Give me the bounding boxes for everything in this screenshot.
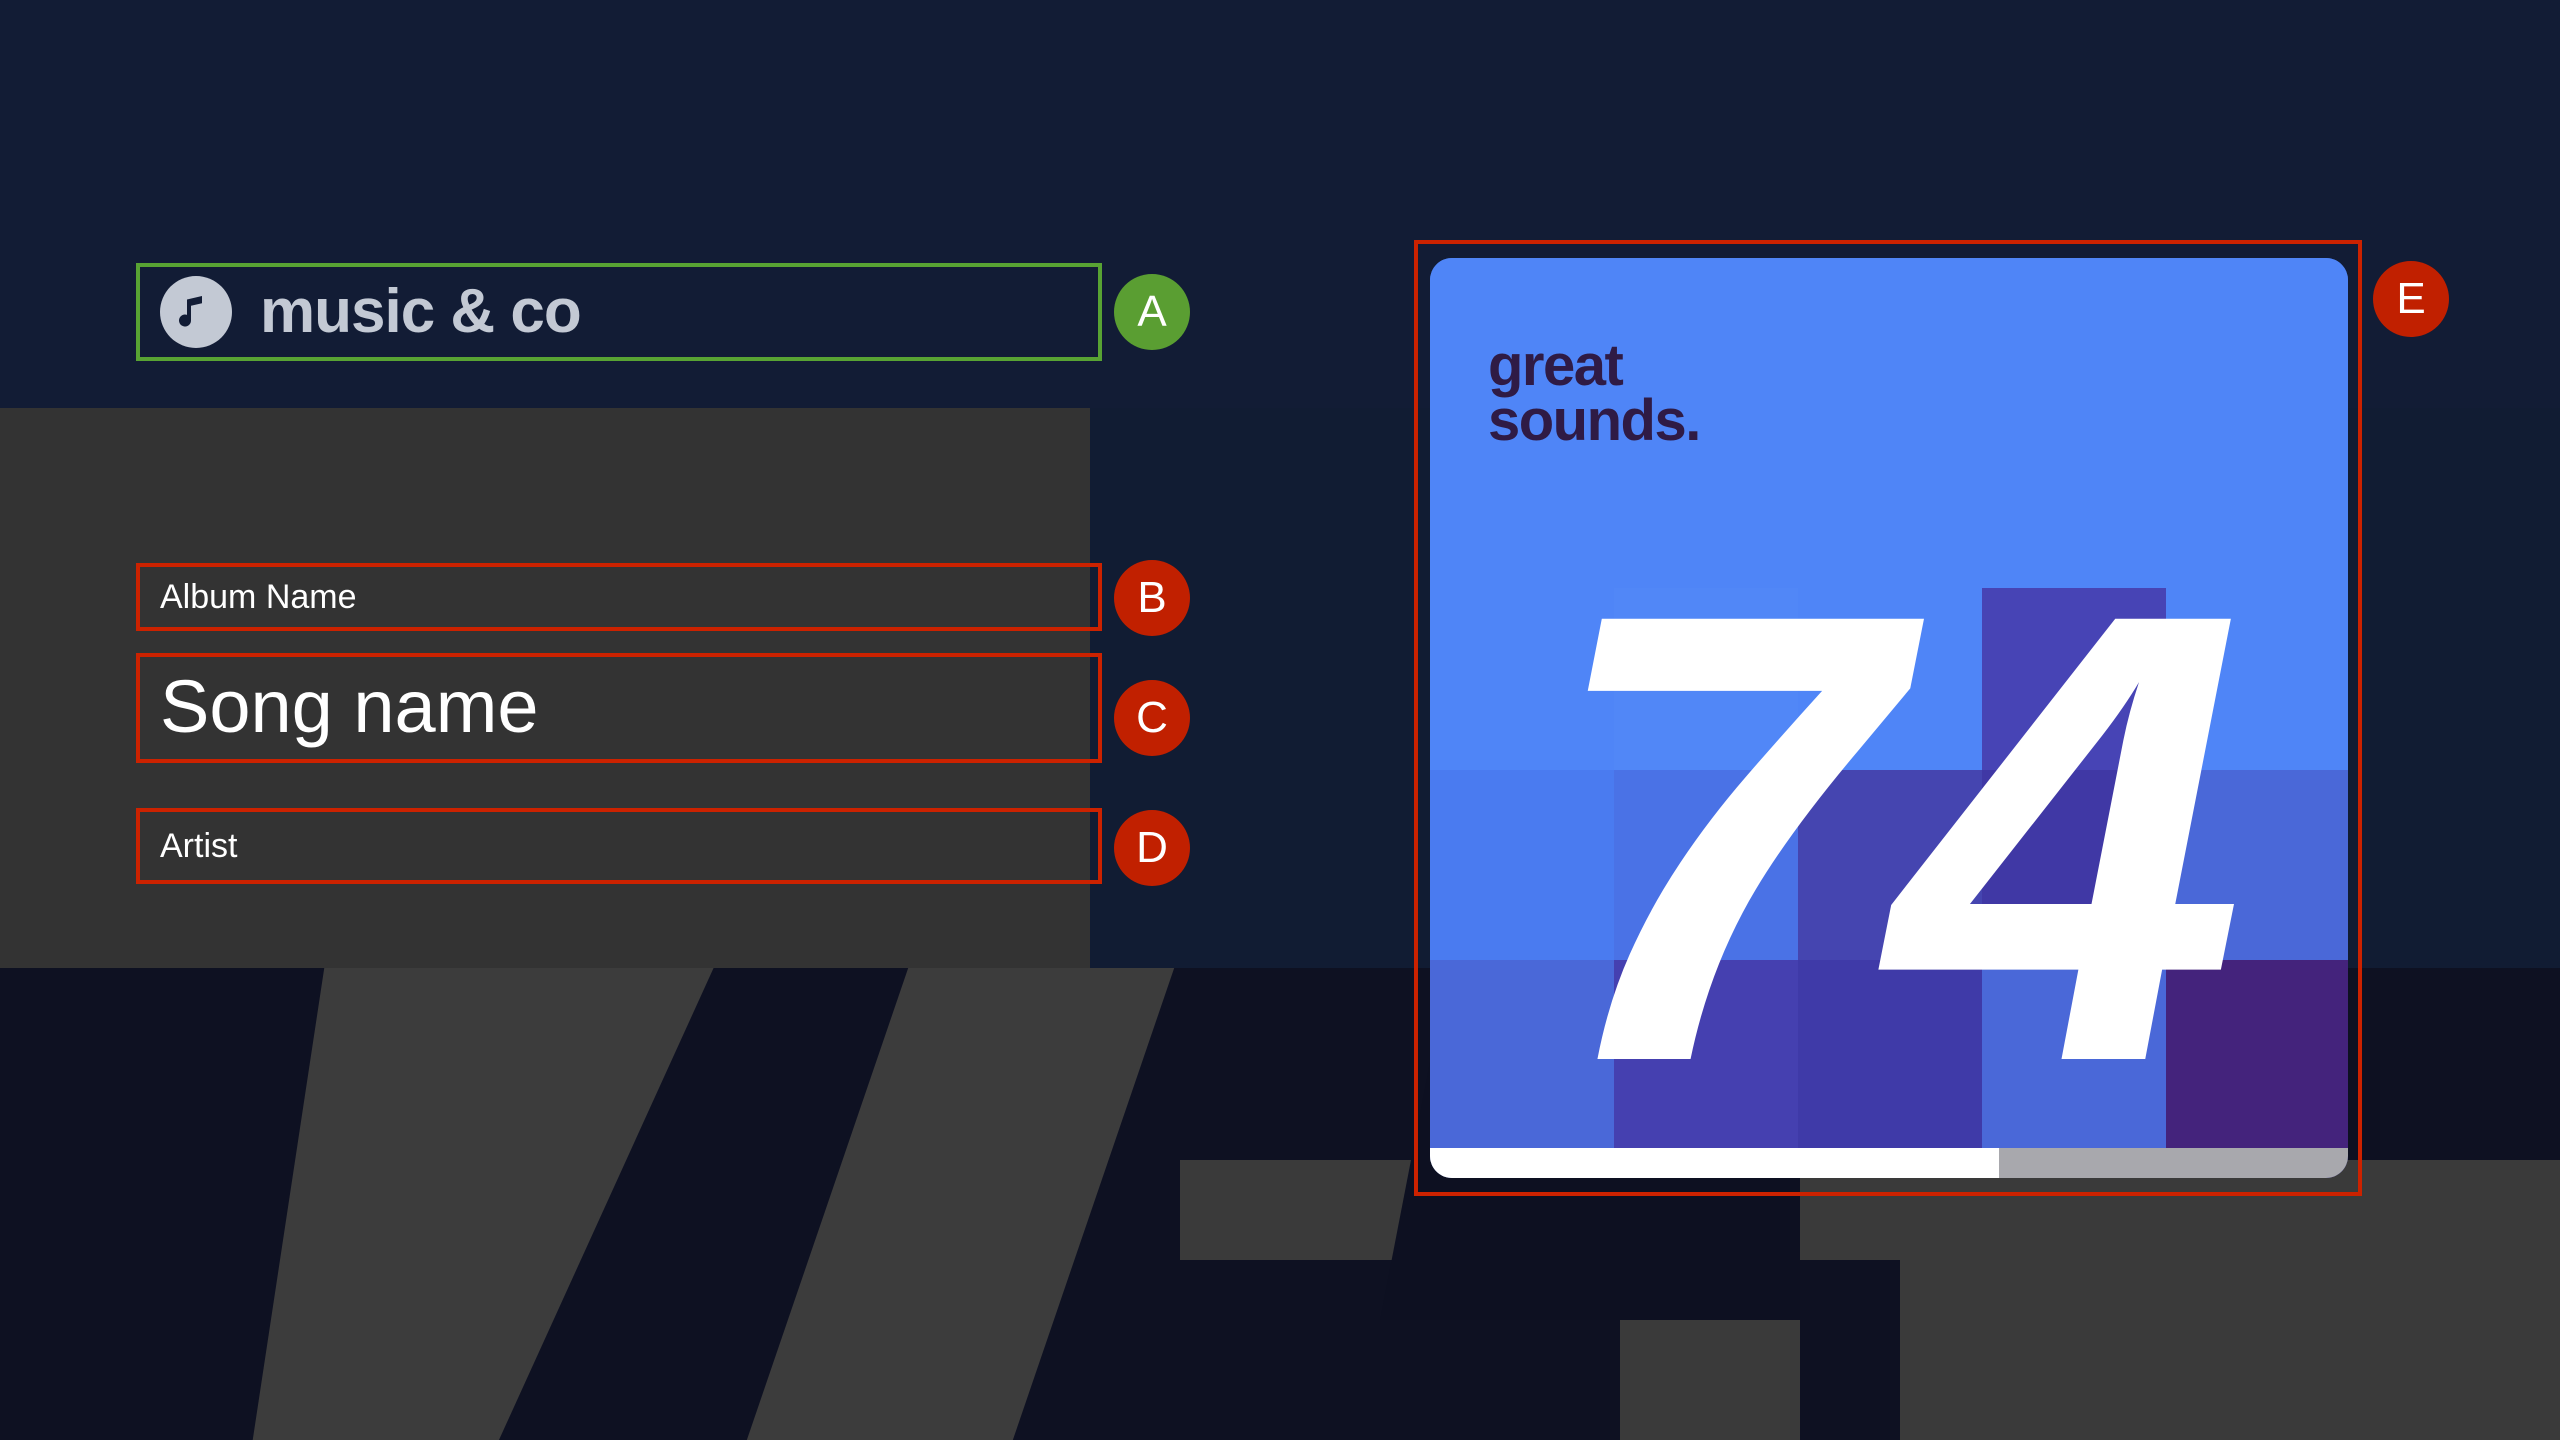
- album-name-field[interactable]: Album Name: [138, 565, 1098, 629]
- music-note-icon: [160, 276, 232, 348]
- album-art[interactable]: great sounds. 74: [1430, 258, 2348, 1178]
- album-progress-fill: [1430, 1148, 1999, 1178]
- bg-grey-corner: [1900, 1160, 2560, 1440]
- album-caption: great sounds.: [1488, 338, 1700, 448]
- artist-value: Artist: [160, 827, 237, 866]
- marker-b: B: [1114, 560, 1190, 636]
- song-name-field[interactable]: Song name: [138, 655, 1098, 759]
- artist-field[interactable]: Artist: [138, 810, 1098, 882]
- album-name-value: Album Name: [160, 578, 357, 617]
- song-name-value: Song name: [160, 670, 539, 744]
- brand-logo[interactable]: music & co: [138, 265, 1098, 359]
- marker-a: A: [1114, 274, 1190, 350]
- brand-name: music & co: [260, 281, 581, 343]
- marker-d: D: [1114, 810, 1190, 886]
- album-progress-bar[interactable]: [1430, 1148, 2348, 1178]
- album-number: 74: [1430, 588, 2348, 1178]
- marker-c: C: [1114, 680, 1190, 756]
- marker-e: E: [2373, 261, 2449, 337]
